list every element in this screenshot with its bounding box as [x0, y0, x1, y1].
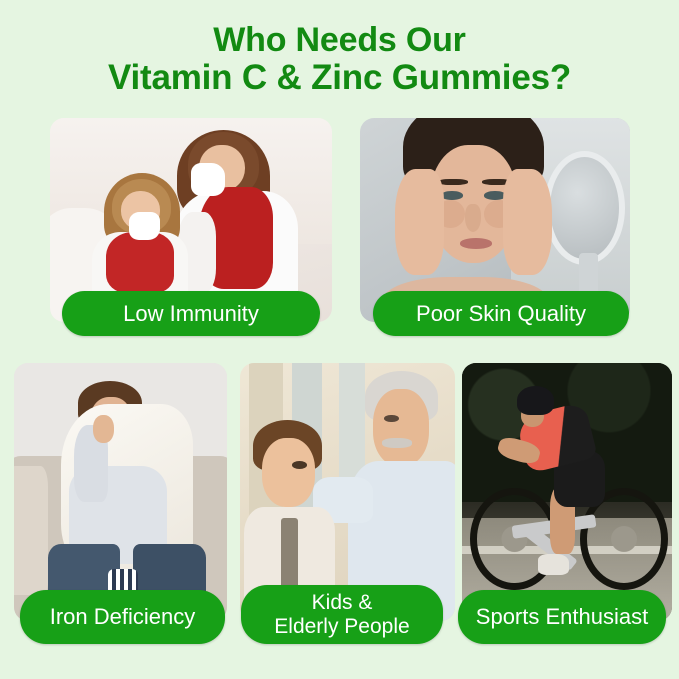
- page-title-line-1: Who Needs Our: [0, 22, 679, 59]
- badge-low-immunity[interactable]: Low Immunity: [62, 291, 320, 336]
- badge-iron-deficiency[interactable]: Iron Deficiency: [20, 590, 225, 644]
- photo-kids-elderly-people: [240, 363, 455, 621]
- card-sports-enthusiast[interactable]: [462, 363, 672, 621]
- infographic-page: Who Needs Our Vitamin C & Zinc Gummies?: [0, 0, 679, 679]
- page-title: Who Needs Our Vitamin C & Zinc Gummies?: [0, 22, 679, 97]
- photo-iron-deficiency: [14, 363, 227, 621]
- photo-sports-enthusiast: [462, 363, 672, 621]
- badge-kids-elderly-people[interactable]: Kids & Elderly People: [241, 585, 443, 644]
- page-title-line-2: Vitamin C & Zinc Gummies?: [0, 59, 679, 97]
- card-kids-elderly-people[interactable]: [240, 363, 455, 621]
- badge-sports-enthusiast[interactable]: Sports Enthusiast: [458, 590, 666, 644]
- card-iron-deficiency[interactable]: [14, 363, 227, 621]
- badge-poor-skin-quality[interactable]: Poor Skin Quality: [373, 291, 629, 336]
